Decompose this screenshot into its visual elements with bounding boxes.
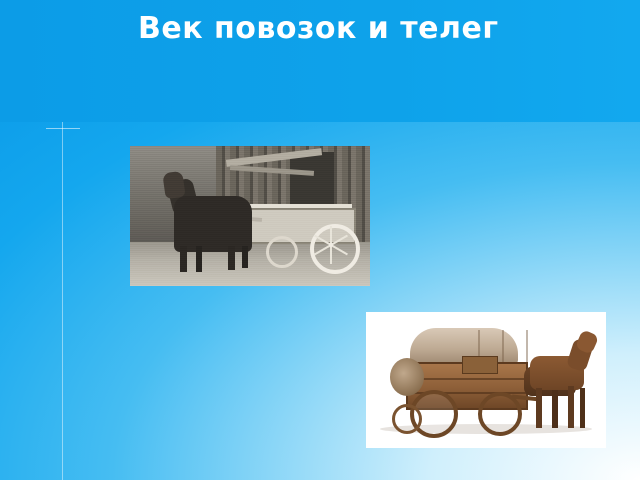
- photo1-film-grain: [130, 146, 370, 286]
- photo2-wagon-front-cover: [390, 358, 424, 396]
- slide: Век повозок и телег: [0, 0, 640, 480]
- covered-wagon-with-horses-photo: [366, 312, 606, 448]
- photo2-horse-leg: [568, 386, 574, 428]
- layout-guide-vertical: [62, 122, 63, 480]
- page-title: Век повозок и телег: [60, 10, 620, 47]
- photo2-horse-leg: [536, 388, 542, 428]
- photo2-horse-leg: [580, 388, 585, 428]
- photo2-wagon-wheel-front: [392, 404, 422, 434]
- layout-guide-horizontal: [46, 128, 80, 129]
- photo2-canopy-rib: [526, 330, 528, 364]
- photo2-wagon-seat: [462, 356, 498, 374]
- black-and-white-horse-cart-photo: [130, 146, 370, 286]
- photo2-wagon-plank: [408, 378, 526, 380]
- photo2-horse-leg: [552, 390, 558, 428]
- photo2-canopy-rib: [502, 330, 504, 364]
